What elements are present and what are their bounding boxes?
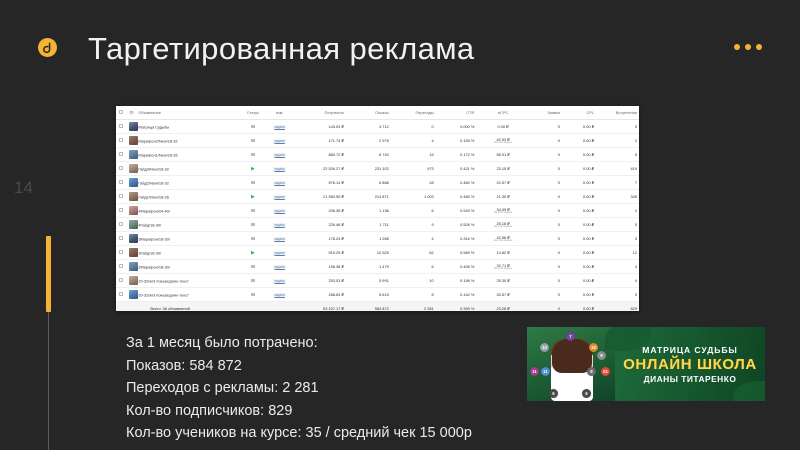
ecpc-note: На этой неделе — [478, 142, 527, 145]
cell-ctr: 0.406 % — [436, 260, 477, 274]
cell-spent: 22 526.27 ₽ — [292, 162, 345, 176]
summary-line-3: Переходов с рекламы: 2 281 — [126, 377, 472, 400]
table-row[interactable]: Гайд2/New/18-32задать576.14 ₽6 886280.46… — [116, 176, 639, 190]
summary-line-1: За 1 месяц было потрачено: — [126, 332, 472, 355]
ad-thumbnail-icon — [129, 276, 138, 285]
cell-impressions: 8 740 — [346, 148, 391, 162]
slide-root: Таргетированная реклама 14 👁 Объявление … — [0, 0, 800, 450]
promo-line-2: ОНЛАЙН ШКОЛА — [623, 356, 757, 373]
row-checkbox[interactable] — [116, 274, 127, 288]
eye-icon: 👁 — [129, 110, 134, 115]
ad-name-label: 3Марафон/18-30/ — [138, 236, 170, 241]
cell-edit[interactable]: задать — [267, 218, 293, 232]
ad-thumbnail-icon — [129, 290, 138, 299]
cell-joins: 3 — [596, 232, 639, 246]
total-joins: 829 — [596, 302, 639, 312]
cell-leads: 0 — [530, 162, 562, 176]
edit-link[interactable]: задать — [273, 279, 287, 283]
row-thumbnail-cell — [127, 120, 137, 134]
cell-joins: 2 — [596, 134, 639, 148]
ad-thumbnail-icon — [129, 122, 138, 131]
matrix-node: 10 — [589, 343, 598, 352]
checkbox-icon[interactable] — [119, 138, 123, 142]
promo-line-3: ДИАНЫ ТИТАРЕНКО — [644, 374, 737, 384]
header-impressions[interactable]: Показы — [346, 106, 391, 120]
ad-name-label: 4Гайд/18-30/ — [138, 222, 161, 227]
table-row[interactable]: 4Марафон/24-40/задать206.35 ₽1 13660.533… — [116, 204, 639, 218]
row-checkbox[interactable] — [116, 204, 127, 218]
cell-edit[interactable]: задать — [267, 176, 293, 190]
checkbox-icon[interactable] — [119, 278, 123, 282]
ecpc-note: На этой неделе — [478, 268, 527, 271]
cell-spent: 206.35 ₽ — [292, 204, 345, 218]
cell-clicks: 9 — [391, 218, 436, 232]
cell-joins: 3 — [596, 260, 639, 274]
edit-link[interactable]: задать — [273, 293, 287, 297]
ad-thumbnail-icon — [129, 220, 138, 229]
table-row[interactable]: Марафон2/New/18-32задать171.74 ₽2 97540.… — [116, 134, 639, 148]
edit-link[interactable]: задать — [273, 181, 287, 185]
three-dots-icon[interactable] — [734, 44, 762, 50]
ad-thumbnail-icon — [129, 150, 138, 159]
status-running-icon: ▶ — [251, 166, 255, 172]
status-running-icon: ▶ — [251, 194, 255, 200]
status-stopped-icon — [251, 209, 254, 212]
edit-link[interactable]: задать — [273, 195, 287, 199]
ecpc-note: На этой неделе — [478, 226, 527, 229]
checkbox-icon[interactable] — [119, 180, 123, 184]
cell-ctr: 0.155 % — [436, 134, 477, 148]
cell-edit[interactable]: задать — [267, 232, 293, 246]
row-thumbnail-cell — [127, 260, 137, 274]
ad-thumbnail-icon — [129, 262, 138, 271]
cell-spent: 576.14 ₽ — [292, 176, 345, 190]
cell-ecpc: 14.82 ₽ — [476, 246, 529, 260]
table-row[interactable]: Матрица Судьбызадать143.03 ₽3 71200.000 … — [116, 120, 639, 134]
row-checkbox[interactable] — [116, 190, 127, 204]
slide-number: 14 — [14, 178, 33, 198]
cell-status[interactable] — [239, 204, 267, 218]
table-row[interactable]: 3Гайд/18-30/▶задать919.29 ₽10 525620.589… — [116, 246, 639, 260]
row-checkbox[interactable] — [116, 246, 127, 260]
cell-ctr: 0.589 % — [436, 246, 477, 260]
matrix-node: 11 — [530, 367, 539, 376]
edit-link[interactable]: задать — [273, 223, 287, 227]
ad-name-label: Марафон1/New/18-26 — [138, 152, 177, 157]
checkbox-icon[interactable] — [119, 250, 123, 254]
total-spacer — [127, 302, 137, 312]
ecpc-value: 14.82 ₽ — [478, 250, 527, 255]
table-row[interactable]: Марафон1/New/18-26задать883.72 ₽8 740150… — [116, 148, 639, 162]
progress-rail-fill — [46, 236, 51, 312]
matrix-node: 11 — [541, 367, 550, 376]
cell-leads: 0 — [530, 204, 562, 218]
ad-thumbnail-icon — [129, 206, 138, 215]
cell-spent: 171.74 ₽ — [292, 134, 345, 148]
table-row[interactable]: 4Гайд/18-30/задать226.46 ₽1 71190.526 %2… — [116, 218, 639, 232]
header-spent[interactable]: Потрачено — [292, 106, 345, 120]
cell-leads: 0 — [530, 120, 562, 134]
header-leads[interactable]: Заявки — [530, 106, 562, 120]
cell-leads: 0 — [530, 232, 562, 246]
status-stopped-icon — [251, 181, 254, 184]
matrix-node: 6 — [582, 389, 591, 398]
ecpc-note: На этой неделе — [478, 240, 527, 243]
cell-ecpc: 33.57 ₽ — [476, 288, 529, 302]
cell-spent: 268.63 ₽ — [292, 288, 345, 302]
ads-screenshot-card: 👁 Объявление Статус изм. Потрачено Показ… — [116, 106, 639, 311]
edit-link[interactable]: задать — [273, 153, 287, 157]
cell-edit[interactable]: задать — [267, 134, 293, 148]
summary-line-2: Показов: 584 872 — [126, 355, 472, 378]
cell-leads: 0 — [530, 190, 562, 204]
cell-clicks: 15 — [391, 148, 436, 162]
ad-name-label: Матрица Судьбы — [138, 124, 169, 129]
cell-spent: 178.24 ₽ — [292, 232, 345, 246]
table-row[interactable]: Гайд3/New/18-32▶задать22 526.27 ₽231 102… — [116, 162, 639, 176]
cell-impressions: 6 886 — [346, 176, 391, 190]
ad-thumbnail-icon — [129, 248, 138, 257]
edit-link[interactable]: задать — [273, 237, 287, 241]
cell-clicks: 1 003 — [391, 190, 436, 204]
row-thumbnail-cell — [127, 162, 137, 176]
ecpc-value: 33.57 ₽ — [478, 292, 527, 297]
status-stopped-icon — [251, 153, 254, 156]
cell-joins: 0 — [596, 120, 639, 134]
header-eye: 👁 — [127, 106, 137, 120]
cell-cpl: 0.00 ₽ — [562, 190, 596, 204]
cell-name[interactable]: 4Гайд/18-30/ — [136, 218, 239, 232]
dot-3 — [756, 44, 762, 50]
cell-ctr: 0.000 % — [436, 120, 477, 134]
row-checkbox[interactable] — [116, 134, 127, 148]
header-ecpc[interactable]: eCPC — [476, 106, 529, 120]
table-row[interactable]: Гайд1/New/18-26▶задать21 983.59 ₽214 871… — [116, 190, 639, 204]
cell-impressions: 1 266 — [346, 232, 391, 246]
table-header-row: 👁 Объявление Статус изм. Потрачено Показ… — [116, 106, 639, 120]
row-checkbox[interactable] — [116, 176, 127, 190]
cell-name[interactable]: Матрица Судьбы — [136, 120, 239, 134]
promo-text: МАТРИЦА СУДЬБЫ ОНЛАЙН ШКОЛА ДИАНЫ ТИТАРЕ… — [615, 327, 765, 401]
cell-impressions: 1 136 — [346, 204, 391, 218]
cell-status[interactable] — [239, 260, 267, 274]
ecpc-value: 21.30 ₽ — [478, 194, 527, 199]
summary-block: За 1 месяц было потрачено: Показов: 584 … — [126, 332, 472, 445]
checkbox-icon[interactable] — [119, 166, 123, 170]
ad-name-label: 20-32/ж/3 показа/длин текст — [138, 278, 189, 283]
cell-cpl: 0.00 ₽ — [562, 204, 596, 218]
header-select-all[interactable] — [116, 106, 127, 120]
ad-name-label: Гайд1/New/18-26 — [138, 194, 169, 199]
cell-status[interactable] — [239, 148, 267, 162]
checkbox-icon[interactable] — [119, 124, 123, 128]
header-ctr[interactable]: CTR — [436, 106, 477, 120]
promo-line-1: МАТРИЦА СУДЬБЫ — [642, 345, 737, 355]
cell-ecpc: 21.30 ₽ — [476, 190, 529, 204]
dot-2 — [745, 44, 751, 50]
status-stopped-icon — [251, 237, 254, 240]
table-row[interactable]: 3Марафон/18-30/задать178.24 ₽1 26640.316… — [116, 232, 639, 246]
cell-cpl: 0.00 ₽ — [562, 232, 596, 246]
cell-name[interactable]: Марафон1/New/18-26 — [136, 148, 239, 162]
cell-joins: 12 — [596, 246, 639, 260]
cell-name[interactable]: Гайд2/New/18-32 — [136, 176, 239, 190]
edit-link[interactable]: задать — [273, 167, 287, 171]
cell-name[interactable]: 3Марафон/18-30/ — [136, 232, 239, 246]
cell-name[interactable]: Гайд3/New/18-32 — [136, 162, 239, 176]
cell-leads: 0 — [530, 134, 562, 148]
cell-ecpc: 42.93 ₽На этой неделе — [476, 134, 529, 148]
ad-thumbnail-icon — [129, 192, 138, 201]
cell-impressions: 5 615 — [346, 288, 391, 302]
cell-edit[interactable]: задать — [267, 120, 293, 134]
cell-ecpc: 34.39 ₽На этой неделе — [476, 204, 529, 218]
cell-leads: 0 — [530, 176, 562, 190]
cell-impressions: 1 711 — [346, 218, 391, 232]
cell-clicks: 62 — [391, 246, 436, 260]
cell-spent: 21 983.59 ₽ — [292, 190, 345, 204]
cell-status[interactable]: ▶ — [239, 246, 267, 260]
cell-joins: 7 — [596, 176, 639, 190]
table-row[interactable]: 2Марафон/18-30/задать196.38 ₽1 47960.406… — [116, 260, 639, 274]
cell-status[interactable]: ▶ — [239, 162, 267, 176]
row-thumbnail-cell — [127, 232, 137, 246]
cell-name[interactable]: 20-32/ж/3 показа/длин текст — [136, 288, 239, 302]
ad-thumbnail-icon — [129, 234, 138, 243]
cell-status[interactable] — [239, 218, 267, 232]
status-stopped-icon — [251, 125, 254, 128]
table-row[interactable]: 20-32/ж/3 показа/длин текстзадать253.03 … — [116, 274, 639, 288]
header-joins[interactable]: Вступления — [596, 106, 639, 120]
cell-impressions: 3 712 — [346, 120, 391, 134]
matrix-node: 9 — [597, 351, 606, 360]
cell-clicks: 6 — [391, 260, 436, 274]
cell-name[interactable]: 20-32/ж/3 показа/длин текст — [136, 274, 239, 288]
total-leads: 0 — [530, 302, 562, 312]
cell-cpl: 0.00 ₽ — [562, 218, 596, 232]
page-title: Таргетированная реклама — [88, 31, 475, 67]
cell-cpl: 0.00 ₽ — [562, 260, 596, 274]
dot-1 — [734, 44, 740, 50]
status-stopped-icon — [251, 223, 254, 226]
cell-status[interactable] — [239, 232, 267, 246]
cell-edit[interactable]: задать — [267, 204, 293, 218]
cell-status[interactable] — [239, 176, 267, 190]
edit-link[interactable]: задать — [273, 139, 287, 143]
cell-impressions: 10 525 — [346, 246, 391, 260]
leaf-icon — [733, 381, 765, 401]
cell-spent: 253.03 ₽ — [292, 274, 345, 288]
ad-name-label: Гайд2/New/18-32 — [138, 180, 169, 185]
cell-edit[interactable]: задать — [267, 162, 293, 176]
ads-table-body: Матрица Судьбызадать143.03 ₽3 71200.000 … — [116, 120, 639, 312]
total-label: Всего: 36 объявлений — [136, 302, 239, 312]
cell-leads: 0 — [530, 288, 562, 302]
edit-link[interactable]: задать — [273, 251, 287, 255]
cell-impressions: 231 102 — [346, 162, 391, 176]
cell-joins: 419 — [596, 162, 639, 176]
cell-name[interactable]: 2Марафон/18-30/ — [136, 260, 239, 274]
cell-cpl: 0.00 ₽ — [562, 176, 596, 190]
row-checkbox[interactable] — [116, 260, 127, 274]
cell-ecpc: 42.56 ₽На этой неделе — [476, 232, 529, 246]
header-cpl[interactable]: CPL — [562, 106, 596, 120]
cell-status[interactable]: ▶ — [239, 190, 267, 204]
checkbox-icon[interactable] — [119, 152, 123, 156]
header-name[interactable]: Объявление — [136, 106, 239, 120]
cell-ctr: 0.196 % — [436, 274, 477, 288]
checkbox-icon[interactable] — [119, 264, 123, 268]
cell-cpl: 0.00 ₽ — [562, 148, 596, 162]
checkbox-icon[interactable] — [119, 292, 123, 296]
row-thumbnail-cell — [127, 204, 137, 218]
status-stopped-icon — [251, 279, 254, 282]
checkbox-icon[interactable] — [119, 222, 123, 226]
cell-cpl: 0.00 ₽ — [562, 246, 596, 260]
row-checkbox[interactable] — [116, 288, 127, 302]
cell-status[interactable] — [239, 288, 267, 302]
ad-thumbnail-icon — [129, 178, 138, 187]
cell-status[interactable] — [239, 120, 267, 134]
edit-link[interactable]: задать — [273, 209, 287, 213]
status-stopped-icon — [251, 265, 254, 268]
status-running-icon: ▶ — [251, 250, 255, 256]
ad-name-label: 2Марафон/18-30/ — [138, 264, 170, 269]
cell-leads: 0 — [530, 274, 562, 288]
ad-name-label: 20-32/ж/3 показа/длин текст — [138, 292, 189, 297]
cell-name[interactable]: Марафон2/New/18-32 — [136, 134, 239, 148]
header-status[interactable]: Статус — [239, 106, 267, 120]
cell-spent: 196.38 ₽ — [292, 260, 345, 274]
checkbox-icon[interactable] — [119, 194, 123, 198]
cell-ecpc: 0.00 ₽ — [476, 120, 529, 134]
total-ctr: 0.390 % — [436, 302, 477, 312]
cell-impressions: 5 991 — [346, 274, 391, 288]
checkbox-icon[interactable] — [119, 236, 123, 240]
cell-name[interactable]: 3Гайд/18-30/ — [136, 246, 239, 260]
cell-joins: 2 — [596, 204, 639, 218]
summary-line-4: Кол-во подписчиков: 829 — [126, 400, 472, 423]
ecpc-value: 23.15 ₽ — [478, 166, 527, 171]
edit-link[interactable]: задать — [273, 265, 287, 269]
header-clicks[interactable]: Переходы — [391, 106, 436, 120]
row-thumbnail-cell — [127, 134, 137, 148]
cell-clicks: 0 — [391, 120, 436, 134]
cell-cpl: 0.00 ₽ — [562, 162, 596, 176]
ecpc-value: 0.00 ₽ — [478, 124, 527, 129]
row-checkbox[interactable] — [116, 120, 127, 134]
cell-edit[interactable]: задать — [267, 260, 293, 274]
cell-status[interactable] — [239, 134, 267, 148]
row-checkbox[interactable] — [116, 218, 127, 232]
ecpc-note: На этой неделе — [478, 212, 527, 215]
cell-joins: 0 — [596, 288, 639, 302]
cell-cpl: 0.00 ₽ — [562, 288, 596, 302]
cell-cpl: 0.00 ₽ — [562, 134, 596, 148]
row-thumbnail-cell — [127, 288, 137, 302]
cell-ctr: 0.172 % — [436, 148, 477, 162]
cell-name[interactable]: 4Марафон/24-40/ — [136, 204, 239, 218]
ads-table: 👁 Объявление Статус изм. Потрачено Показ… — [116, 106, 639, 311]
cell-cpl: 0.00 ₽ — [562, 120, 596, 134]
row-thumbnail-cell — [127, 274, 137, 288]
ad-name-label: 3Гайд/18-30/ — [138, 250, 161, 255]
cell-name[interactable]: Гайд1/New/18-26 — [136, 190, 239, 204]
ad-name-label: Марафон2/New/18-32 — [138, 138, 177, 143]
row-thumbnail-cell — [127, 218, 137, 232]
cell-joins: 4 — [596, 274, 639, 288]
cell-clicks: 6 — [391, 204, 436, 218]
cell-leads: 0 — [530, 148, 562, 162]
ad-name-label: 4Марафон/24-40/ — [138, 208, 170, 213]
ad-thumbnail-icon — [129, 136, 138, 145]
total-clicks: 2 281 — [391, 302, 436, 312]
status-stopped-icon — [251, 139, 254, 142]
edit-link[interactable]: задать — [273, 125, 287, 129]
total-impressions: 584 872 — [346, 302, 391, 312]
summary-line-5: Кол-во учеников на курсе: 35 / средний ч… — [126, 422, 472, 445]
cell-edit[interactable]: задать — [267, 274, 293, 288]
cell-spent: 226.46 ₽ — [292, 218, 345, 232]
row-thumbnail-cell — [127, 190, 137, 204]
cell-clicks: 28 — [391, 176, 436, 190]
row-thumbnail-cell — [127, 176, 137, 190]
matrix-node: 10 — [540, 343, 549, 352]
cell-cpl: 0.00 ₽ — [562, 274, 596, 288]
cell-spent: 143.03 ₽ — [292, 120, 345, 134]
circle-d-logo-icon — [38, 38, 57, 57]
checkbox-icon[interactable] — [119, 110, 123, 114]
cell-ctr: 0.142 % — [436, 288, 477, 302]
row-thumbnail-cell — [127, 148, 137, 162]
cell-status[interactable] — [239, 274, 267, 288]
row-checkbox[interactable] — [116, 148, 127, 162]
cell-ecpc: 25.16 ₽На этой неделе — [476, 218, 529, 232]
cell-clicks: 4 — [391, 232, 436, 246]
cell-edit[interactable]: задать — [267, 288, 293, 302]
header-edit[interactable]: изм. — [267, 106, 293, 120]
total-spacer — [239, 302, 267, 312]
matrix-node: 8 — [587, 367, 596, 376]
cell-ctr: 0.316 % — [436, 232, 477, 246]
cell-clicks: 973 — [391, 162, 436, 176]
table-total-row: Всего: 36 объявлений53 107.17 ₽584 8722 … — [116, 302, 639, 312]
cell-ecpc: 32.71 ₽На этой неделе — [476, 260, 529, 274]
cell-ecpc: 20.57 ₽ — [476, 176, 529, 190]
cell-ctr: 0.421 % — [436, 162, 477, 176]
cell-edit[interactable]: задать — [267, 246, 293, 260]
cell-spent: 883.72 ₽ — [292, 148, 345, 162]
ad-thumbnail-icon — [129, 164, 138, 173]
cell-ctr: 0.460 % — [436, 176, 477, 190]
row-thumbnail-cell — [127, 246, 137, 260]
total-cpl: 0.00 ₽ — [562, 302, 596, 312]
matrix-node: 7 — [566, 332, 575, 341]
cell-edit[interactable]: задать — [267, 190, 293, 204]
row-checkbox[interactable] — [116, 232, 127, 246]
row-checkbox[interactable] — [116, 162, 127, 176]
cell-ecpc: 58.91 ₽ — [476, 148, 529, 162]
ads-table-head: 👁 Объявление Статус изм. Потрачено Показ… — [116, 106, 639, 120]
matrix-node: 6 — [549, 389, 558, 398]
cell-impressions: 2 975 — [346, 134, 391, 148]
table-row[interactable]: 20-32/ж/3 показа/длин текстзадать268.63 … — [116, 288, 639, 302]
cell-leads: 0 — [530, 218, 562, 232]
cell-edit[interactable]: задать — [267, 148, 293, 162]
checkbox-icon[interactable] — [119, 208, 123, 212]
total-ecpc: 23.28 ₽ — [476, 302, 529, 312]
cell-impressions: 1 479 — [346, 260, 391, 274]
